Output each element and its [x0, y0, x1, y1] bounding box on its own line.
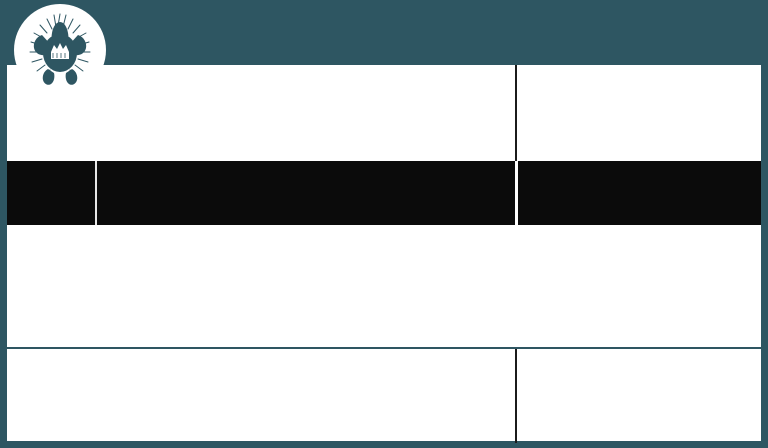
- measurements-table: [7, 225, 761, 336]
- table-header-band: [7, 161, 761, 225]
- header-text-block: [121, 6, 123, 9]
- water-group-header-cell: [97, 161, 515, 225]
- report-header: [0, 0, 768, 65]
- water-note: [7, 349, 515, 443]
- report-body-panel: [7, 65, 761, 441]
- air-standard-block: [517, 65, 761, 161]
- air-group-header-cell: [518, 161, 761, 225]
- footnotes-strip: [7, 347, 761, 443]
- standards-strip: [7, 65, 761, 161]
- report-page: [0, 0, 768, 448]
- turtle-crown-badge-icon: [14, 4, 106, 96]
- air-note: [517, 349, 761, 443]
- header-corner-blank: [7, 161, 95, 225]
